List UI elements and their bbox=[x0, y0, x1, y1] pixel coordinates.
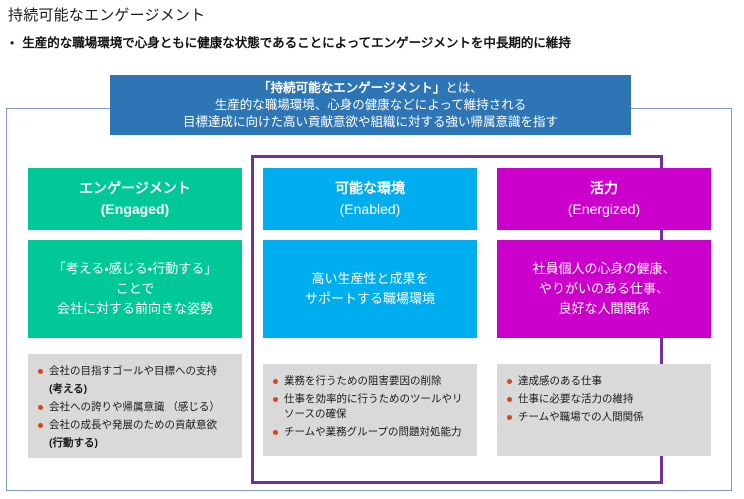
list-item-text: 仕事を効率的に行うためのツールやリソースの確保 bbox=[284, 392, 469, 422]
body-energized-line-2: やりがいのある仕事、 bbox=[539, 279, 669, 299]
header-enabled-jp: 可能な環境 bbox=[335, 178, 405, 198]
bullet-dot-icon bbox=[38, 405, 43, 410]
header-enabled: 可能な環境 (Enabled) bbox=[263, 168, 477, 230]
list-item-text: 達成感のある仕事 bbox=[518, 374, 602, 389]
header-engaged: エンゲージメント (Engaged) bbox=[28, 168, 242, 230]
body-energized: 社員個人の心身の健康、 やりがいのある仕事、 良好な人間関係 bbox=[497, 240, 711, 338]
list-item: チームや業務グループの問題対処能力 bbox=[273, 425, 469, 440]
list-item-text: チームや職場での人間関係 bbox=[518, 410, 644, 425]
list-energized: 達成感のある仕事 仕事に必要な活力の維持 チームや職場での人間関係 bbox=[497, 364, 711, 456]
bullet-dot-icon bbox=[507, 415, 512, 420]
list-item: 会社への誇りや帰属意識 （感じる） bbox=[38, 400, 234, 415]
definition-line-1: 「持続可能なエンゲージメント」とは、 bbox=[258, 80, 483, 97]
definition-banner: 「持続可能なエンゲージメント」とは、 生産的な職場環境、心身の健康などによって維… bbox=[110, 75, 631, 135]
bullet-dot-icon bbox=[38, 369, 43, 374]
definition-lead-tail: とは、 bbox=[445, 81, 483, 95]
list-item-text: 業務を行うための阻害要因の削除 bbox=[284, 374, 442, 389]
definition-line-2: 生産的な職場環境、心身の健康などによって維持される bbox=[215, 97, 527, 114]
bullet-marker-icon: • bbox=[10, 34, 14, 52]
slide-bullet-text: 生産的な職場環境で心身ともに健康な状態であることによってエンゲージメントを中長期… bbox=[22, 34, 571, 52]
bullet-dot-icon bbox=[273, 397, 278, 402]
column-energized: 活力 (Energized) 社員個人の心身の健康、 やりがいのある仕事、 良好… bbox=[497, 168, 711, 456]
list-enabled: 業務を行うための阻害要因の削除 仕事を効率的に行うためのツールやリソースの確保 … bbox=[263, 364, 477, 456]
slide-bullet: • 生産的な職場環境で心身ともに健康な状態であることによってエンゲージメントを中… bbox=[10, 34, 571, 52]
list-item: 仕事を効率的に行うためのツールやリソースの確保 bbox=[273, 392, 469, 422]
body-energized-line-1: 社員個人の心身の健康、 bbox=[532, 259, 675, 279]
body-enabled: 高い生産性と成果を サポートする職場環境 bbox=[263, 240, 477, 338]
header-energized-en: (Energized) bbox=[568, 198, 640, 220]
list-item: 会社の成長や発展のための貢献意欲 bbox=[38, 418, 234, 433]
list-item-text: 仕事に必要な活力の維持 bbox=[518, 392, 634, 407]
column-engaged: エンゲージメント (Engaged) 「考える・感じる・行動する」 ことで 会社… bbox=[28, 168, 242, 458]
body-engaged: 「考える・感じる・行動する」 ことで 会社に対する前向きな姿勢 bbox=[28, 240, 242, 338]
header-energized: 活力 (Energized) bbox=[497, 168, 711, 230]
column-enabled: 可能な環境 (Enabled) 高い生産性と成果を サポートする職場環境 業務を… bbox=[263, 168, 477, 456]
list-item: 仕事に必要な活力の維持 bbox=[507, 392, 703, 407]
list-item-text: チームや業務グループの問題対処能力 bbox=[284, 425, 462, 440]
list-item-text: 会社の成長や発展のための貢献意欲 bbox=[49, 418, 217, 433]
definition-lead-term: 「持続可能なエンゲージメント」 bbox=[258, 81, 445, 95]
list-engaged: 会社の目指すゴールや目標への支持 (考える) 会社への誇りや帰属意識 （感じる）… bbox=[28, 354, 242, 458]
body-engaged-line-2: ことで bbox=[116, 279, 155, 299]
bullet-dot-icon bbox=[273, 379, 278, 384]
list-item-sub: (考える) bbox=[49, 382, 234, 397]
bullet-dot-icon bbox=[38, 423, 43, 428]
definition-line-3: 目標達成に向けた高い貢献意欲や組織に対する強い帰属意識を指す bbox=[183, 114, 558, 131]
list-item: チームや職場での人間関係 bbox=[507, 410, 703, 425]
list-item-sub: (行動する) bbox=[49, 436, 234, 451]
header-energized-jp: 活力 bbox=[590, 178, 618, 198]
header-engaged-en: (Engaged) bbox=[101, 198, 169, 220]
body-enabled-line-2: サポートする職場環境 bbox=[305, 289, 435, 309]
list-item: 達成感のある仕事 bbox=[507, 374, 703, 389]
list-item-text: 会社の目指すゴールや目標への支持 bbox=[49, 364, 217, 379]
body-engaged-line-3: 会社に対する前向きな姿勢 bbox=[57, 299, 213, 319]
body-enabled-line-1: 高い生産性と成果を bbox=[311, 269, 428, 289]
bullet-dot-icon bbox=[507, 397, 512, 402]
bullet-dot-icon bbox=[273, 430, 278, 435]
body-engaged-line-1: 「考える・感じる・行動する」 bbox=[53, 259, 217, 279]
header-enabled-en: (Enabled) bbox=[340, 198, 401, 220]
list-item: 業務を行うための阻害要因の削除 bbox=[273, 374, 469, 389]
slide-title: 持続可能なエンゲージメント bbox=[8, 4, 205, 25]
body-energized-line-3: 良好な人間関係 bbox=[558, 299, 649, 319]
list-item-text: 会社への誇りや帰属意識 （感じる） bbox=[49, 400, 220, 415]
header-engaged-jp: エンゲージメント bbox=[79, 178, 191, 198]
bullet-dot-icon bbox=[507, 379, 512, 384]
list-item: 会社の目指すゴールや目標への支持 bbox=[38, 364, 234, 379]
